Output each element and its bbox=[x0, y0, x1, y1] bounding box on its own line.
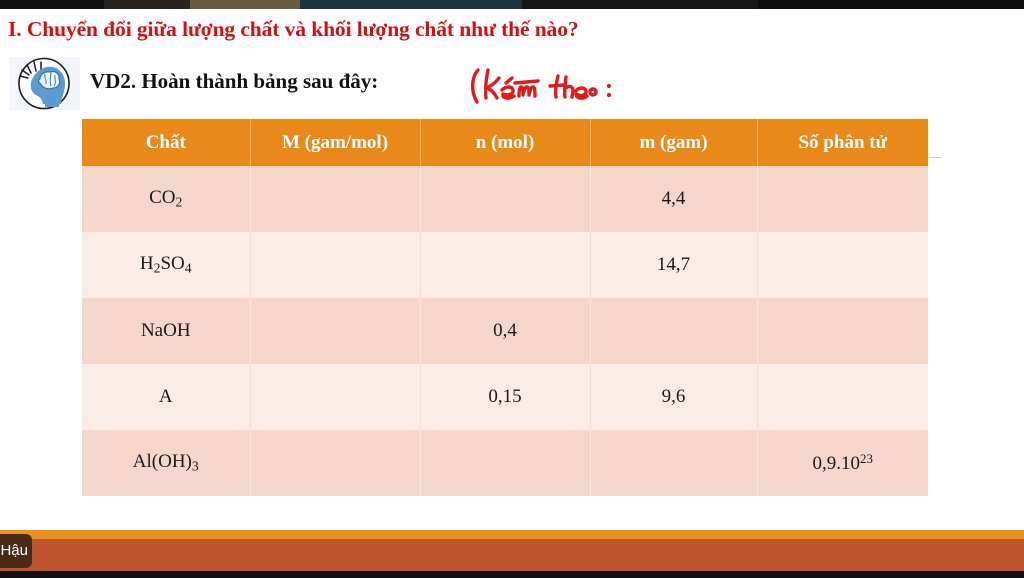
handwritten-note-kem-theo bbox=[466, 64, 626, 108]
cell-moles[interactable] bbox=[420, 166, 590, 232]
formula-subscript: 3 bbox=[192, 459, 199, 474]
cell-molecules[interactable] bbox=[757, 298, 928, 364]
cell-molecules[interactable] bbox=[757, 364, 928, 430]
chrome-segment-5 bbox=[758, 0, 1024, 9]
table-row: NaOH 0,4 bbox=[82, 298, 928, 364]
app-chrome-strip bbox=[0, 0, 1024, 9]
cell-moles[interactable] bbox=[420, 430, 590, 496]
cell-mass[interactable]: 14,7 bbox=[590, 232, 757, 298]
cell-molar-mass[interactable] bbox=[250, 232, 420, 298]
cell-molecules[interactable]: 0,9.1023 bbox=[757, 430, 928, 496]
participant-name-badge: Hậu bbox=[0, 534, 32, 568]
slide-heading: I. Chuyển đổi giữa lượng chất và khối lư… bbox=[8, 17, 579, 42]
idea-brain-icon bbox=[9, 57, 80, 110]
cell-mass[interactable] bbox=[590, 430, 757, 496]
cell-substance: Al(OH)3 bbox=[82, 430, 250, 496]
exercise-label: VD2. Hoàn thành bảng sau đây: bbox=[90, 69, 378, 94]
slide-canvas: I. Chuyển đổi giữa lượng chất và khối lư… bbox=[0, 9, 1024, 530]
stray-guide-line bbox=[929, 157, 941, 158]
cell-molar-mass[interactable] bbox=[250, 166, 420, 232]
cell-mass[interactable] bbox=[590, 298, 757, 364]
cell-molar-mass[interactable] bbox=[250, 430, 420, 496]
table-row: Al(OH)3 0,9.1023 bbox=[82, 430, 928, 496]
cell-molecules[interactable] bbox=[757, 232, 928, 298]
cell-mass[interactable]: 4,4 bbox=[590, 166, 757, 232]
cell-molar-mass[interactable] bbox=[250, 298, 420, 364]
cell-molar-mass[interactable] bbox=[250, 364, 420, 430]
column-header-molecules: Số phân tử bbox=[757, 119, 928, 166]
substance-conversion-table: Chất M (gam/mol) n (mol) m (gam) Số phân… bbox=[82, 119, 928, 496]
cell-mass[interactable]: 9,6 bbox=[590, 364, 757, 430]
formula-base: CO bbox=[149, 187, 175, 208]
column-header-chat: Chất bbox=[82, 119, 250, 166]
cell-molecules[interactable] bbox=[757, 166, 928, 232]
cell-moles[interactable]: 0,4 bbox=[420, 298, 590, 364]
table-row: CO2 4,4 bbox=[82, 166, 928, 232]
formula-base: Al(OH) bbox=[133, 451, 192, 472]
table-header-row: Chất M (gam/mol) n (mol) m (gam) Số phân… bbox=[82, 119, 928, 166]
formula-subscript-2: 4 bbox=[185, 261, 192, 276]
footer-shadow bbox=[0, 571, 1024, 578]
column-header-molar-mass: M (gam/mol) bbox=[250, 119, 420, 166]
formula-base: H bbox=[140, 253, 154, 274]
cell-moles[interactable]: 0,15 bbox=[420, 364, 590, 430]
table-row: A 0,15 9,6 bbox=[82, 364, 928, 430]
column-header-moles: n (mol) bbox=[420, 119, 590, 166]
chrome-segment-4 bbox=[522, 0, 758, 9]
footer-accent-bar bbox=[0, 530, 1024, 539]
chrome-segment-2 bbox=[190, 0, 300, 9]
cell-substance: H2SO4 bbox=[82, 232, 250, 298]
cell-substance: NaOH bbox=[82, 298, 250, 364]
formula-mid: SO bbox=[160, 253, 184, 274]
cell-substance: A bbox=[82, 364, 250, 430]
chrome-segment-1 bbox=[104, 0, 190, 9]
footer-bar bbox=[0, 539, 1024, 571]
table-row: H2SO4 14,7 bbox=[82, 232, 928, 298]
formula-subscript: 2 bbox=[176, 195, 183, 210]
column-header-mass: m (gam) bbox=[590, 119, 757, 166]
chrome-segment-3 bbox=[300, 0, 522, 9]
sci-mantissa: 0,9.10 bbox=[813, 453, 861, 474]
sci-exponent: 23 bbox=[860, 451, 873, 466]
cell-substance: CO2 bbox=[82, 166, 250, 232]
cell-moles[interactable] bbox=[420, 232, 590, 298]
